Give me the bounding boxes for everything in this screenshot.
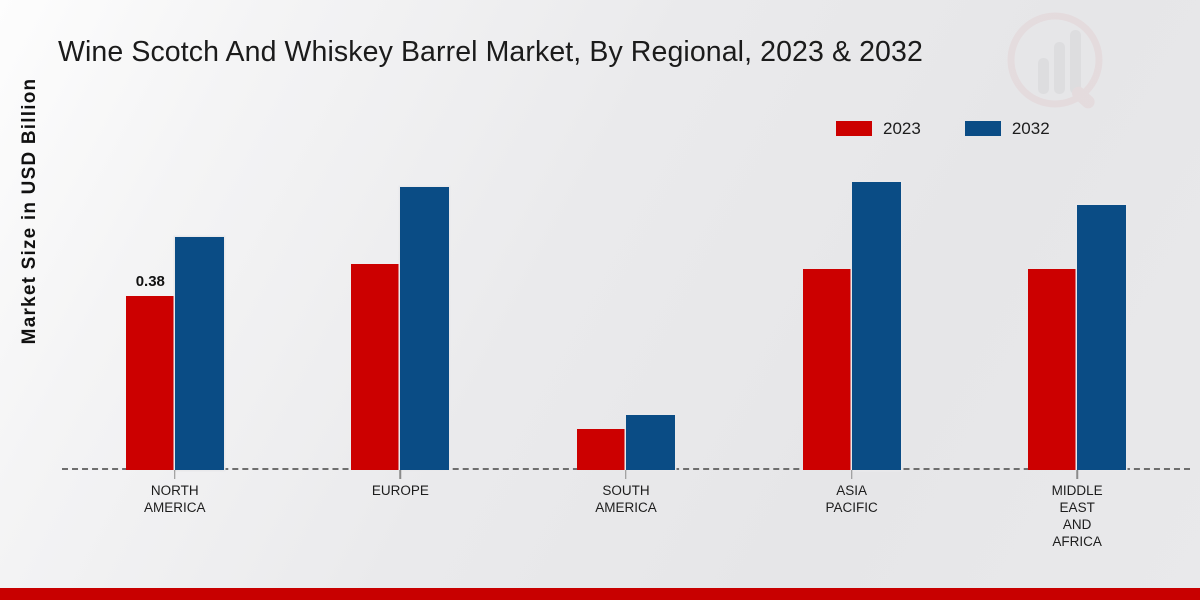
bar-pair <box>803 150 901 470</box>
bar-group: ASIA PACIFIC <box>739 150 965 470</box>
bar-pair <box>351 150 449 470</box>
x-axis-tick <box>400 470 402 479</box>
plot-area: 0.38NORTH AMERICAEUROPESOUTH AMERICAASIA… <box>62 150 1190 470</box>
x-axis-tick <box>625 470 627 479</box>
bar-group: EUROPE <box>288 150 514 470</box>
legend-swatch-2023 <box>836 121 872 136</box>
chart-canvas: Wine Scotch And Whiskey Barrel Market, B… <box>0 0 1200 600</box>
chart-legend: 2023 2032 <box>836 120 1050 137</box>
page-title: Wine Scotch And Whiskey Barrel Market, B… <box>58 36 923 69</box>
x-axis-category-label: NORTH AMERICA <box>144 482 206 516</box>
legend-item-2032[interactable]: 2032 <box>965 120 1050 137</box>
footer-accent-bar <box>0 588 1200 600</box>
x-axis-tick <box>1076 470 1078 479</box>
bar-2032[interactable] <box>852 182 901 470</box>
watermark-logo-icon <box>1000 8 1118 126</box>
bar-pair: 0.38 <box>126 150 224 470</box>
bar-pair <box>577 150 675 470</box>
bar-2032[interactable] <box>1077 205 1126 470</box>
x-axis-tick <box>851 470 853 479</box>
bar-group: SOUTH AMERICA <box>513 150 739 470</box>
x-axis-category-label: SOUTH AMERICA <box>595 482 657 516</box>
x-axis-tick <box>174 470 176 479</box>
bar-value-label: 0.38 <box>136 273 165 290</box>
x-axis-category-label: MIDDLE EAST AND AFRICA <box>1052 482 1103 550</box>
bar-2023[interactable] <box>803 269 852 470</box>
bar-2023[interactable] <box>351 264 400 470</box>
legend-label-2032: 2032 <box>1012 120 1050 137</box>
bar-group: MIDDLE EAST AND AFRICA <box>964 150 1190 470</box>
legend-item-2023[interactable]: 2023 <box>836 120 921 137</box>
x-axis-category-label: ASIA PACIFIC <box>825 482 877 516</box>
bar-2032[interactable] <box>175 237 224 470</box>
bar-2032[interactable] <box>626 415 675 470</box>
x-axis-category-label: EUROPE <box>372 482 429 499</box>
legend-label-2023: 2023 <box>883 120 921 137</box>
legend-swatch-2032 <box>965 121 1001 136</box>
bar-2023[interactable]: 0.38 <box>126 296 175 470</box>
bar-2023[interactable] <box>1028 269 1077 470</box>
bar-group: 0.38NORTH AMERICA <box>62 150 288 470</box>
y-axis-title: Market Size in USD Billion <box>19 41 41 381</box>
bar-pair <box>1028 150 1126 470</box>
bar-2032[interactable] <box>400 187 449 470</box>
bar-2023[interactable] <box>577 429 626 470</box>
